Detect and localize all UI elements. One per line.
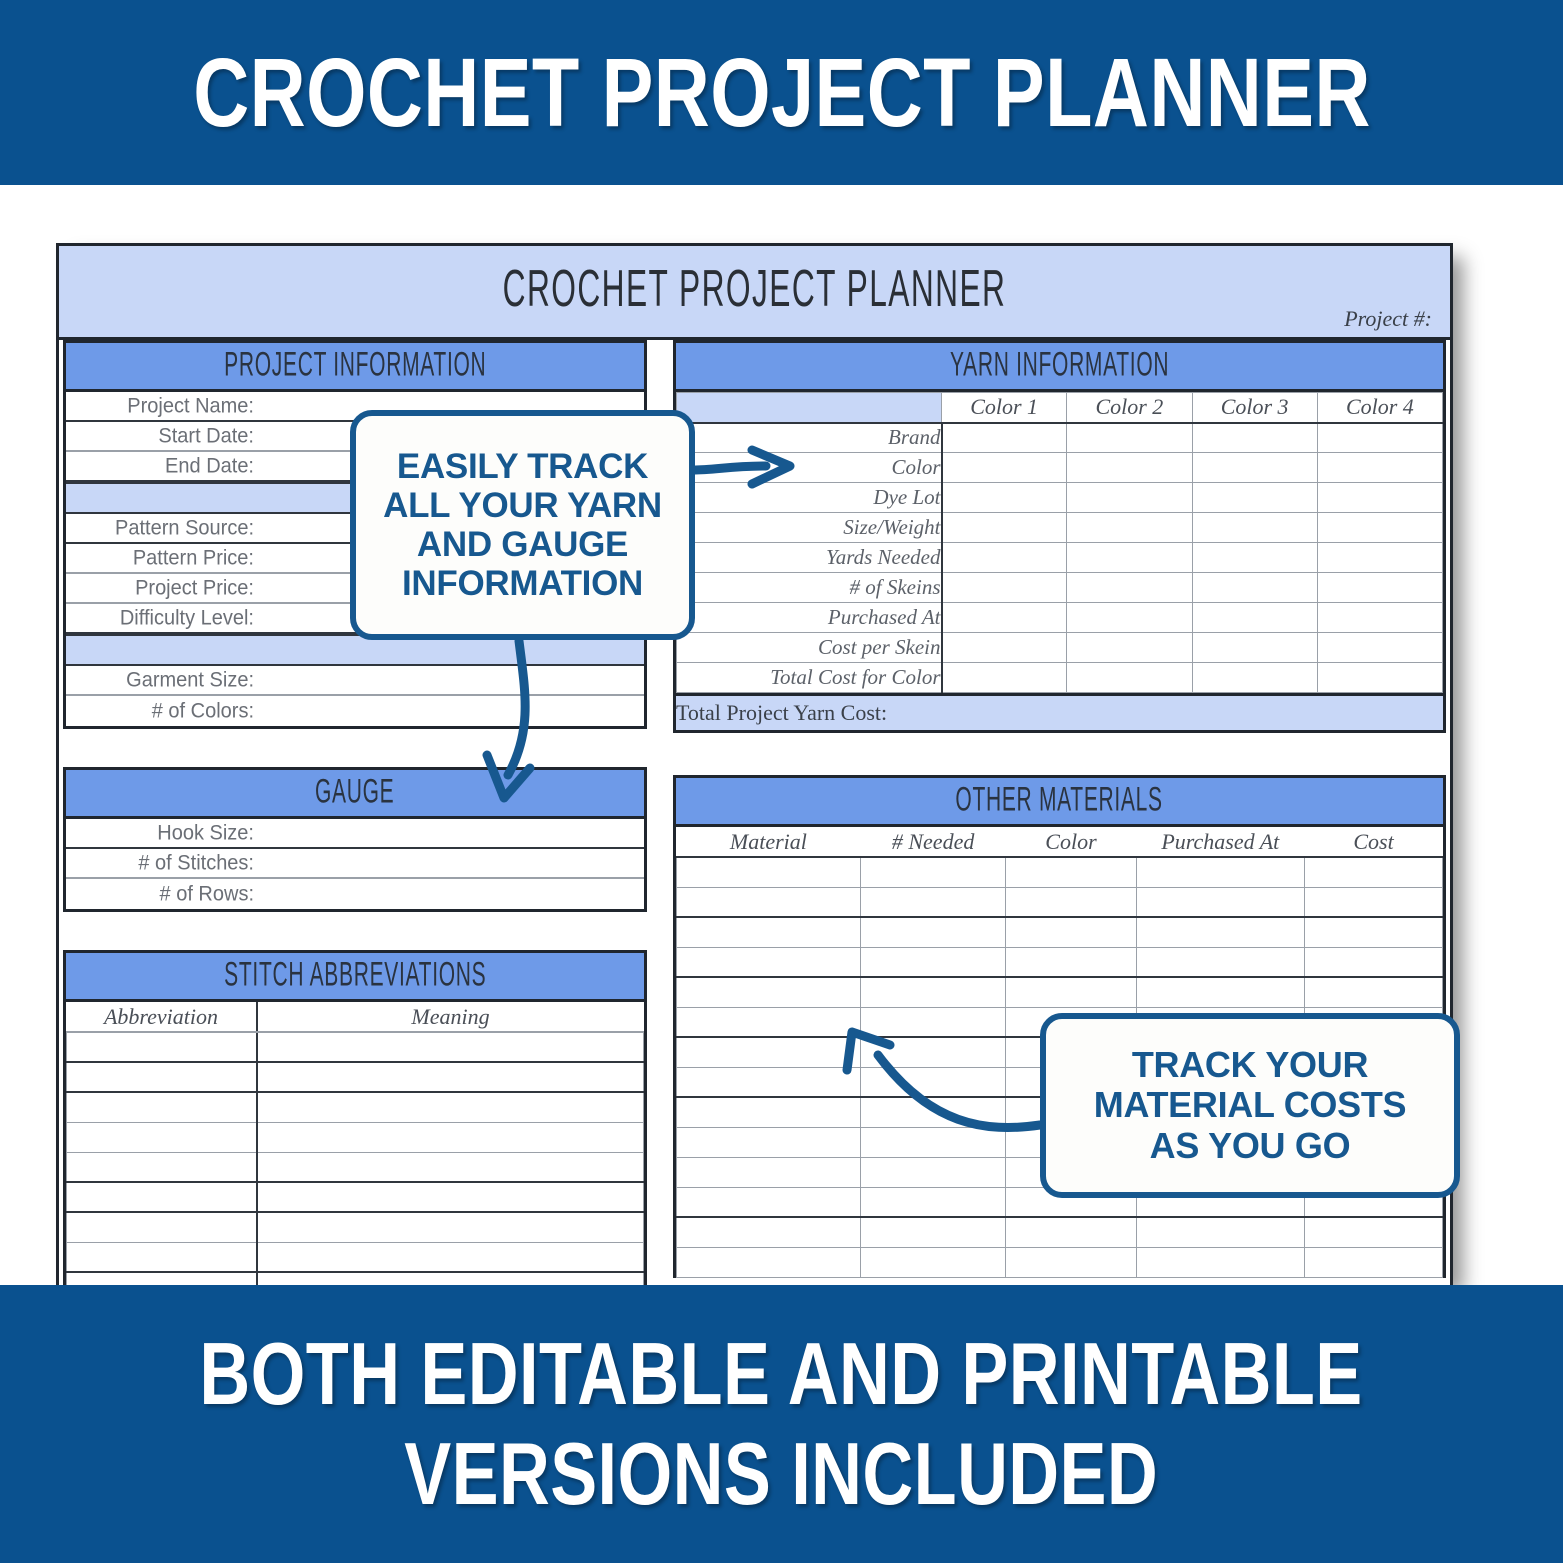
cell-color1[interactable] <box>942 453 1067 483</box>
cell-material[interactable] <box>677 1007 861 1037</box>
table-row[interactable] <box>677 917 1443 947</box>
cell-purchased-at[interactable] <box>1136 947 1305 977</box>
cell-color4[interactable] <box>1317 663 1442 693</box>
cell-purchased-at[interactable] <box>1136 1217 1305 1247</box>
field-row[interactable]: # of Rows: <box>66 879 644 909</box>
callout-yarn-gauge: EASILY TRACK ALL YOUR YARN AND GAUGE INF… <box>350 410 695 640</box>
yarn-information-block: YARN INFORMATION Color 1 Color 2 Color 3… <box>673 340 1446 733</box>
cell-material[interactable] <box>677 917 861 947</box>
cell-meaning[interactable] <box>257 1062 644 1092</box>
cell-material[interactable] <box>677 1217 861 1247</box>
cell-material[interactable] <box>677 1097 861 1127</box>
cell-color3[interactable] <box>1192 513 1317 543</box>
cell-color3[interactable] <box>1192 573 1317 603</box>
table-header-row: Material # Needed Color Purchased At Cos… <box>677 827 1443 857</box>
cell-purchased-at[interactable] <box>1136 857 1305 887</box>
stitch-abbreviations-header-label: STITCH ABBREVIATIONS <box>224 956 486 995</box>
field-label: # of Stitches: <box>66 851 260 875</box>
cell-color4[interactable] <box>1317 453 1442 483</box>
gauge-header: GAUGE <box>66 770 644 819</box>
bottom-banner: BOTH EDITABLE AND PRINTABLE VERSIONS INC… <box>0 1285 1563 1563</box>
cell-purchased-at[interactable] <box>1136 887 1305 917</box>
column-header: Abbreviation <box>67 1002 257 1032</box>
row-label: Dye Lot <box>677 483 942 513</box>
cell-color[interactable] <box>1006 947 1136 977</box>
field-row[interactable]: # of Stitches: <box>66 849 644 879</box>
cell-color[interactable] <box>1006 1247 1136 1277</box>
cell-color2[interactable] <box>1067 633 1192 663</box>
cell-material[interactable] <box>677 977 861 1007</box>
table-row[interactable]: Size/Weight <box>677 513 1443 543</box>
cell-color[interactable] <box>1006 857 1136 887</box>
field-label: # of Rows: <box>66 882 260 906</box>
table-row[interactable] <box>677 947 1443 977</box>
field-label: # of Colors: <box>66 699 260 723</box>
cell-material[interactable] <box>677 1247 861 1277</box>
other-materials-header: OTHER MATERIALS <box>676 778 1443 827</box>
cell-color[interactable] <box>1006 977 1136 1007</box>
cell-meaning[interactable] <box>257 1242 644 1272</box>
cell-needed[interactable] <box>860 947 1006 977</box>
cell-needed[interactable] <box>860 1247 1006 1277</box>
table-row[interactable]: Total Cost for Color <box>677 663 1443 693</box>
cell-color3[interactable] <box>1192 663 1317 693</box>
row-label: Total Cost for Color <box>677 663 942 693</box>
table-row[interactable] <box>67 1212 644 1242</box>
planner-title-strip: CROCHET PROJECT PLANNER Project #: <box>59 246 1450 340</box>
column-header: Cost <box>1305 827 1443 857</box>
cell-color4[interactable] <box>1317 543 1442 573</box>
row-label: Color <box>677 453 942 483</box>
cell-purchased-at[interactable] <box>1136 977 1305 1007</box>
cell-purchased-at[interactable] <box>1136 1247 1305 1277</box>
cell-purchased-at[interactable] <box>1136 917 1305 947</box>
cell-material[interactable] <box>677 1127 861 1157</box>
cell-color1[interactable] <box>942 423 1067 453</box>
table-row[interactable] <box>67 1122 644 1152</box>
cell-color1[interactable] <box>942 483 1067 513</box>
cell-needed[interactable] <box>860 887 1006 917</box>
cell-needed[interactable] <box>860 977 1006 1007</box>
cell-meaning[interactable] <box>257 1182 644 1212</box>
yarn-information-table: Color 1 Color 2 Color 3 Color 4 Brand Co… <box>676 392 1443 693</box>
cell-color2[interactable] <box>1067 603 1192 633</box>
bottom-banner-line-1: BOTH EDITABLE AND PRINTABLE <box>200 1330 1363 1418</box>
stitch-abbreviations-header: STITCH ABBREVIATIONS <box>66 953 644 1002</box>
cell-needed[interactable] <box>860 1007 1006 1037</box>
stitch-abbreviations-table: Abbreviation Meaning <box>66 1002 644 1288</box>
top-banner: CROCHET PROJECT PLANNER <box>0 0 1563 185</box>
cell-color2[interactable] <box>1067 423 1192 453</box>
cell-needed[interactable] <box>860 1187 1006 1217</box>
callout-line: EASILY TRACK <box>397 447 648 486</box>
cell-color2[interactable] <box>1067 543 1192 573</box>
callout-line: INFORMATION <box>402 564 643 603</box>
cell-color2[interactable] <box>1067 573 1192 603</box>
field-label: Start Date: <box>66 424 260 448</box>
cell-needed[interactable] <box>860 1037 1006 1067</box>
cell-meaning[interactable] <box>257 1032 644 1062</box>
cell-cost[interactable] <box>1305 857 1443 887</box>
field-label: Project Price: <box>66 576 260 600</box>
cell-meaning[interactable] <box>257 1092 644 1122</box>
cell-color1[interactable] <box>942 663 1067 693</box>
table-row[interactable]: Yards Needed <box>677 543 1443 573</box>
cell-abbreviation[interactable] <box>67 1182 257 1212</box>
field-label: Project Name: <box>66 394 260 418</box>
cell-abbreviation[interactable] <box>67 1122 257 1152</box>
cell-color2[interactable] <box>1067 513 1192 543</box>
column-header: Color 4 <box>1317 393 1442 423</box>
cell-material[interactable] <box>677 1037 861 1067</box>
table-row[interactable] <box>67 1032 644 1062</box>
top-banner-title: CROCHET PROJECT PLANNER <box>193 44 1371 141</box>
cell-color4[interactable] <box>1317 573 1442 603</box>
table-row[interactable]: Color <box>677 453 1443 483</box>
cell-needed[interactable] <box>860 857 1006 887</box>
table-row[interactable] <box>67 1182 644 1212</box>
cell-color3[interactable] <box>1192 453 1317 483</box>
cell-needed[interactable] <box>860 1097 1006 1127</box>
cell-needed[interactable] <box>860 917 1006 947</box>
field-row[interactable]: Hook Size: <box>66 819 644 849</box>
callout-line: TRACK YOUR <box>1132 1045 1368 1085</box>
cell-abbreviation[interactable] <box>67 1242 257 1272</box>
table-row[interactable]: Purchased At <box>677 603 1443 633</box>
cell-abbreviation[interactable] <box>67 1092 257 1122</box>
table-header-row: Color 1 Color 2 Color 3 Color 4 <box>677 393 1443 423</box>
cell-meaning[interactable] <box>257 1122 644 1152</box>
field-row[interactable]: Garment Size: <box>66 666 644 696</box>
cell-material[interactable] <box>677 1067 861 1097</box>
project-number-label: Project #: <box>1344 306 1432 332</box>
callout-line: AS YOU GO <box>1150 1126 1351 1166</box>
cell-material[interactable] <box>677 887 861 917</box>
gauge-block: GAUGE Hook Size: # of Stitches: # of Row… <box>63 767 647 912</box>
cell-needed[interactable] <box>860 1067 1006 1097</box>
table-row[interactable]: # of Skeins <box>677 573 1443 603</box>
yarn-information-header-label: YARN INFORMATION <box>950 346 1169 385</box>
cell-abbreviation[interactable] <box>67 1212 257 1242</box>
table-row[interactable]: Cost per Skein <box>677 633 1443 663</box>
column-header: Color 3 <box>1192 393 1317 423</box>
column-header: Meaning <box>257 1002 644 1032</box>
cell-color4[interactable] <box>1317 603 1442 633</box>
gauge-header-label: GAUGE <box>315 773 394 812</box>
cell-color2[interactable] <box>1067 663 1192 693</box>
table-row[interactable] <box>677 857 1443 887</box>
yarn-total-row[interactable]: Total Project Yarn Cost: <box>676 693 1443 730</box>
field-label: Difficulty Level: <box>66 606 260 630</box>
column-header: Color 2 <box>1067 393 1192 423</box>
cell-material[interactable] <box>677 1157 861 1187</box>
table-row[interactable] <box>67 1242 644 1272</box>
cell-material[interactable] <box>677 1187 861 1217</box>
cell-color3[interactable] <box>1192 603 1317 633</box>
table-row[interactable] <box>677 1217 1443 1247</box>
row-label: Cost per Skein <box>677 633 942 663</box>
field-label: Pattern Price: <box>66 546 260 570</box>
cell-cost[interactable] <box>1305 1247 1443 1277</box>
column-header: # Needed <box>860 827 1006 857</box>
column-header: Material <box>677 827 861 857</box>
stitch-abbreviations-block: STITCH ABBREVIATIONS Abbreviation Meanin… <box>63 950 647 1288</box>
cell-color4[interactable] <box>1317 423 1442 453</box>
cell-color4[interactable] <box>1317 513 1442 543</box>
cell-color2[interactable] <box>1067 453 1192 483</box>
yarn-total-label: Total Project Yarn Cost: <box>676 700 1037 726</box>
cell-abbreviation[interactable] <box>67 1062 257 1092</box>
cell-color3[interactable] <box>1192 483 1317 513</box>
planner-page-title: CROCHET PROJECT PLANNER <box>254 260 1256 319</box>
project-information-header-label: PROJECT INFORMATION <box>224 346 486 385</box>
row-label: Size/Weight <box>677 513 942 543</box>
cell-color2[interactable] <box>1067 483 1192 513</box>
field-label: Garment Size: <box>66 668 260 692</box>
cell-color4[interactable] <box>1317 633 1442 663</box>
cell-color[interactable] <box>1006 887 1136 917</box>
cell-cost[interactable] <box>1305 1217 1443 1247</box>
cell-cost[interactable] <box>1305 977 1443 1007</box>
column-header: Purchased At <box>1136 827 1305 857</box>
row-label: Brand <box>677 423 942 453</box>
table-row[interactable] <box>67 1152 644 1182</box>
callout-materials: TRACK YOUR MATERIAL COSTS AS YOU GO <box>1040 1013 1460 1198</box>
bottom-banner-line-2: VERSIONS INCLUDED <box>405 1430 1159 1518</box>
row-label: Purchased At <box>677 603 942 633</box>
cell-meaning[interactable] <box>257 1152 644 1182</box>
callout-line: MATERIAL COSTS <box>1094 1085 1406 1125</box>
cell-cost[interactable] <box>1305 947 1443 977</box>
callout-line: AND GAUGE <box>417 525 628 564</box>
cell-abbreviation[interactable] <box>67 1152 257 1182</box>
row-label: Yards Needed <box>677 543 942 573</box>
cell-material[interactable] <box>677 857 861 887</box>
table-row[interactable]: Dye Lot <box>677 483 1443 513</box>
cell-cost[interactable] <box>1305 917 1443 947</box>
table-row[interactable] <box>677 887 1443 917</box>
other-materials-header-label: OTHER MATERIALS <box>956 781 1163 820</box>
cell-cost[interactable] <box>1305 887 1443 917</box>
table-row[interactable] <box>677 977 1443 1007</box>
callout-line: ALL YOUR YARN <box>383 486 662 525</box>
cell-color1[interactable] <box>942 573 1067 603</box>
corner-cell <box>677 393 942 423</box>
table-row[interactable] <box>677 1247 1443 1277</box>
table-row[interactable] <box>67 1062 644 1092</box>
column-header: Color <box>1006 827 1136 857</box>
field-label: End Date: <box>66 454 260 478</box>
cell-abbreviation[interactable] <box>67 1032 257 1062</box>
cell-needed[interactable] <box>860 1157 1006 1187</box>
field-label: Pattern Source: <box>66 516 260 540</box>
row-label: # of Skeins <box>677 573 942 603</box>
yarn-information-header: YARN INFORMATION <box>676 343 1443 392</box>
cell-color3[interactable] <box>1192 543 1317 573</box>
table-row[interactable] <box>67 1092 644 1122</box>
cell-color1[interactable] <box>942 633 1067 663</box>
table-header-row: Abbreviation Meaning <box>67 1002 644 1032</box>
cell-color1[interactable] <box>942 513 1067 543</box>
cell-color3[interactable] <box>1192 423 1317 453</box>
table-row[interactable]: Brand <box>677 423 1443 453</box>
project-information-header: PROJECT INFORMATION <box>66 343 644 392</box>
cell-color1[interactable] <box>942 543 1067 573</box>
field-row[interactable]: # of Colors: <box>66 696 644 726</box>
gauge-rows: Hook Size: # of Stitches: # of Rows: <box>66 819 644 909</box>
cell-needed[interactable] <box>860 1217 1006 1247</box>
cell-color4[interactable] <box>1317 483 1442 513</box>
cell-meaning[interactable] <box>257 1212 644 1242</box>
field-label: Hook Size: <box>66 821 260 845</box>
cell-color1[interactable] <box>942 603 1067 633</box>
cell-color[interactable] <box>1006 917 1136 947</box>
cell-needed[interactable] <box>860 1127 1006 1157</box>
cell-color3[interactable] <box>1192 633 1317 663</box>
column-header: Color 1 <box>942 393 1067 423</box>
cell-color[interactable] <box>1006 1217 1136 1247</box>
cell-material[interactable] <box>677 947 861 977</box>
